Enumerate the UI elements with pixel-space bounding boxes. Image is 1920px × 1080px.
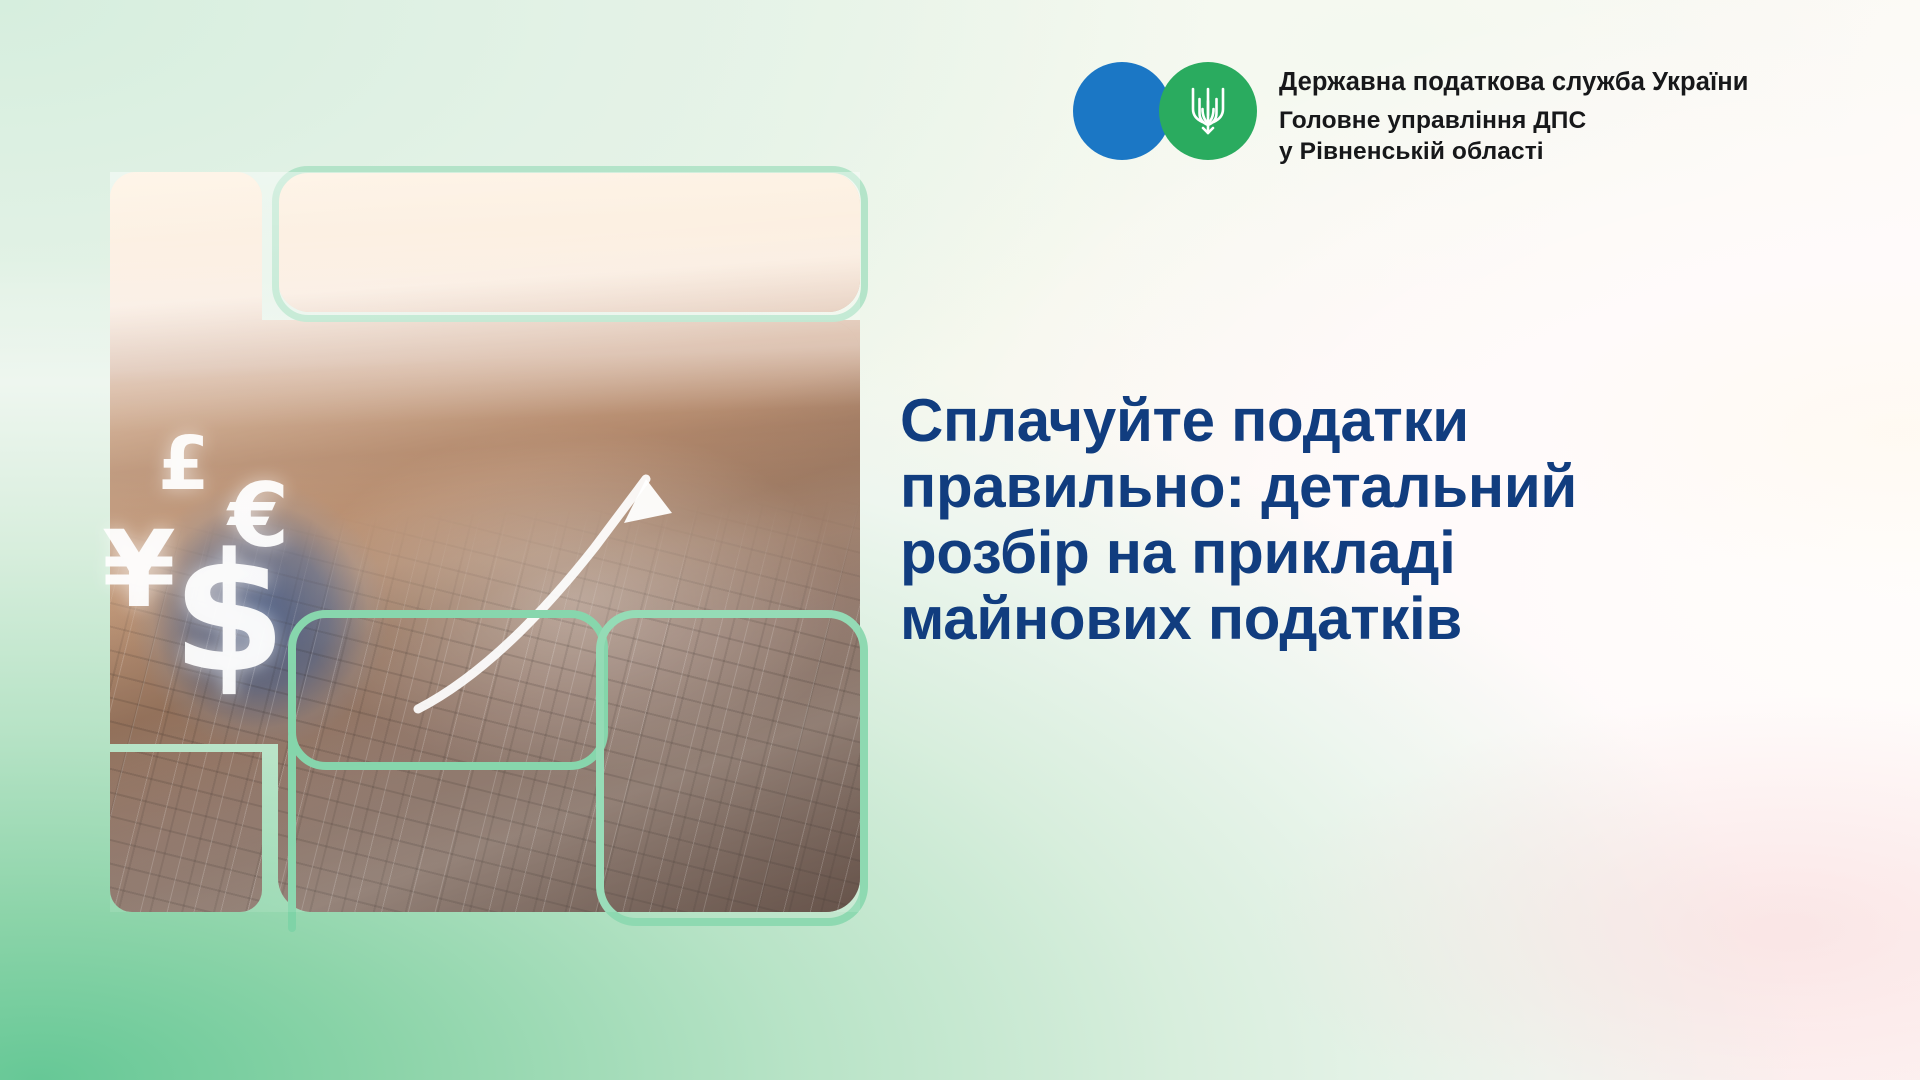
headline-line-1: Сплачуйте податки	[900, 388, 1830, 454]
headline-line-2: правильно: детальний	[900, 454, 1830, 520]
department-line-1: Головне управління ДПС	[1279, 106, 1749, 137]
logo-marks	[1073, 62, 1257, 160]
blue-circle-icon	[1073, 62, 1171, 160]
collage-photo	[278, 320, 860, 912]
department-line-2: у Рівненській області	[1279, 137, 1749, 168]
headline-line-3: розбір на прикладі	[900, 520, 1830, 586]
headline: Сплачуйте податки правильно: детальний р…	[900, 388, 1830, 652]
headline-line-4: майнових податків	[900, 586, 1830, 652]
tryzub-icon	[1188, 83, 1228, 139]
collage-tile-main	[278, 320, 860, 912]
green-circle-icon	[1159, 62, 1257, 160]
logo-text-block: Державна податкова служба України Головн…	[1279, 62, 1749, 167]
collage: £ € ¥ $	[110, 172, 860, 912]
promo-banner: £ € ¥ $	[0, 0, 1920, 1080]
collage-photo	[278, 172, 860, 312]
collage-photo	[110, 752, 262, 912]
organization-name: Державна податкова служба України	[1279, 67, 1749, 97]
collage-tile-bottom-left	[110, 752, 262, 912]
collage-tile-top-right	[278, 172, 860, 312]
logo-lockup: Державна податкова служба України Головн…	[1073, 62, 1749, 167]
